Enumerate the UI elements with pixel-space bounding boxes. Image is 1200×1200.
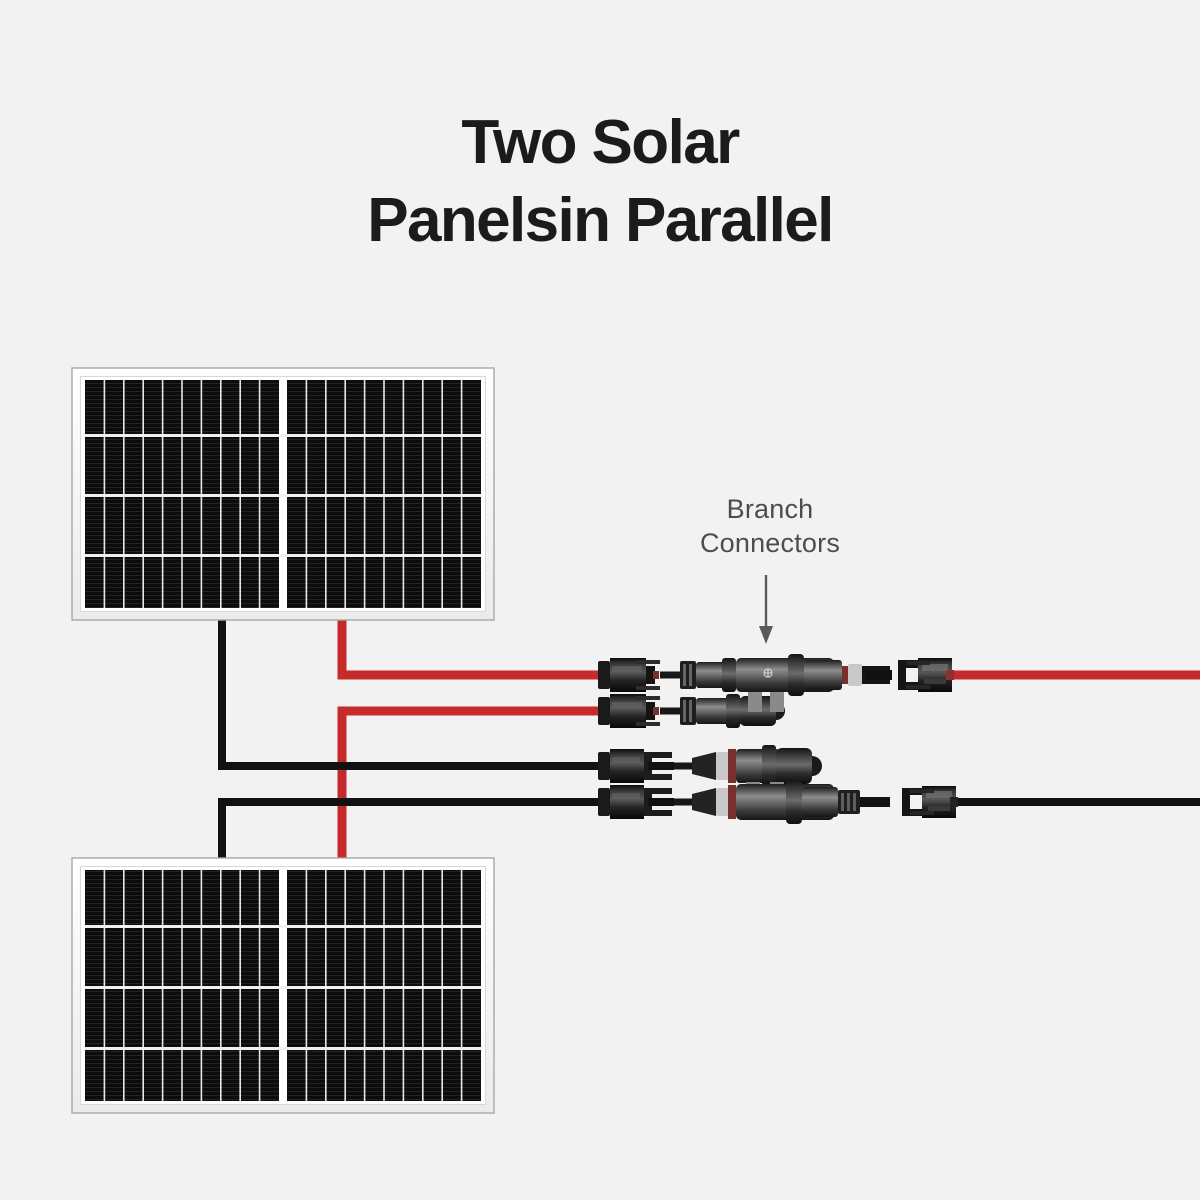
branch-body (736, 654, 842, 696)
panel-half-left (85, 870, 279, 1101)
panel-half-right (287, 870, 481, 1101)
branch-leg-lower (680, 694, 785, 728)
panel-cell-array-bottom (85, 870, 481, 1101)
mc4-plug-row4[interactable] (598, 785, 674, 819)
panel-cell-array-top (85, 380, 481, 608)
branch-output-stem (842, 664, 892, 686)
diagram-canvas: Two Solar Panelsin Parallel Branch Conne… (0, 0, 1200, 1200)
mc4-plug-row2[interactable] (598, 694, 660, 728)
wiring-diagram (0, 0, 1200, 1200)
solar-panel-top[interactable] (72, 368, 494, 620)
solar-panel-bottom[interactable] (72, 858, 494, 1113)
branch-body-neg (736, 780, 838, 824)
mc4-plug-row3[interactable] (598, 749, 674, 783)
mc4-plug-row1[interactable] (598, 658, 660, 692)
